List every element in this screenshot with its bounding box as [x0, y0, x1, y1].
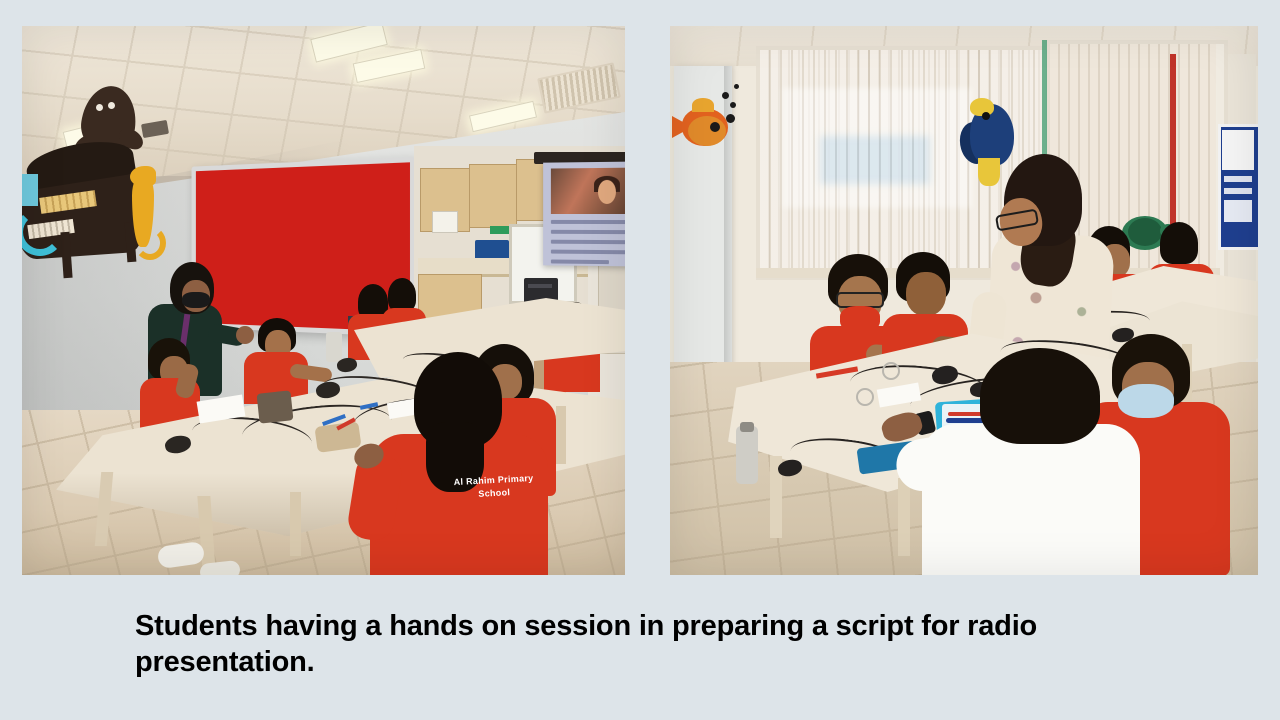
slide-photo — [551, 167, 625, 214]
parrot-eye-mural — [982, 112, 990, 120]
table-leg — [898, 478, 910, 556]
bubble-mural — [730, 102, 736, 108]
laptop-logo — [856, 388, 874, 406]
bottle-cap — [740, 422, 754, 432]
wall-cabinet — [469, 164, 517, 228]
fish-eye-mural — [710, 122, 720, 132]
table-leg — [290, 492, 301, 556]
bubble-mural — [722, 92, 729, 99]
bubble-mural — [734, 84, 739, 89]
slide-canvas: Al Rahim Primary School — [0, 0, 1280, 720]
teacher-hand — [236, 326, 254, 344]
face-mask — [1118, 384, 1174, 418]
student-head — [1160, 222, 1198, 264]
projector-screen — [543, 161, 625, 266]
poster-text-block — [1224, 200, 1252, 222]
red-pipe — [1170, 54, 1176, 250]
cyan-accent-mural — [22, 174, 38, 206]
seahorse-head-mural — [130, 166, 156, 186]
bubble-mural — [726, 114, 735, 123]
slide-photo-face — [598, 180, 616, 204]
slide-caption: Students having a hands on session in pr… — [135, 608, 1165, 681]
turtle-shell-mural — [1128, 218, 1162, 246]
poster — [1222, 130, 1254, 170]
fish-body-mural — [688, 116, 726, 146]
school-shirt-logo: Al Rahim Primary School — [445, 472, 542, 505]
water-bottle — [326, 332, 342, 362]
face-mask — [182, 292, 210, 308]
tower-panel — [528, 284, 552, 288]
foreground-student-head — [980, 348, 1100, 444]
column-shadow — [724, 66, 736, 376]
octopus-eye-mural — [108, 102, 115, 109]
fish-fin-mural — [692, 98, 714, 112]
wall-sign — [432, 211, 458, 233]
poster-text-line — [1224, 176, 1252, 182]
seahorse-tail-mural — [134, 226, 166, 260]
classroom-photo-right[interactable] — [670, 26, 1258, 575]
pencil-pouch — [257, 390, 294, 423]
classroom-photo-left[interactable]: Al Rahim Primary School — [22, 26, 625, 575]
water-bottle — [736, 426, 758, 484]
octopus-eye-mural — [96, 104, 103, 111]
poster-text-line — [1224, 188, 1252, 194]
parrot-tail-mural — [978, 158, 1000, 186]
student-head — [388, 278, 416, 312]
student-face — [906, 272, 946, 316]
slide-bullet-text — [551, 220, 625, 263]
